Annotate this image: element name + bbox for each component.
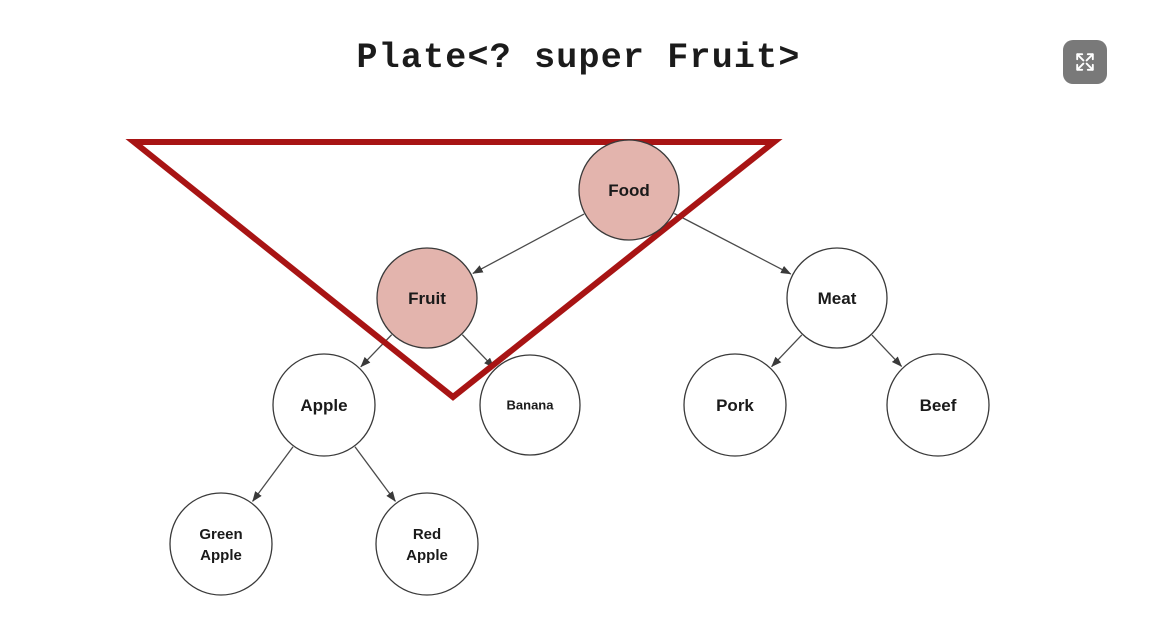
edge-fruit-to-apple xyxy=(361,335,392,367)
node-apple[interactable]: Apple xyxy=(273,354,375,456)
node-label-meat: Meat xyxy=(818,289,857,308)
edge-food-to-fruit xyxy=(473,214,584,273)
node-red-apple[interactable]: RedApple xyxy=(376,493,478,595)
node-label-banana: Banana xyxy=(507,398,555,413)
edge-fruit-to-banana xyxy=(462,335,494,368)
edge-apple-to-red-apple xyxy=(355,447,395,502)
node-fruit[interactable]: Fruit xyxy=(377,248,477,348)
node-label-beef: Beef xyxy=(920,396,957,415)
node-label-fruit: Fruit xyxy=(408,289,446,308)
node-label-apple: Apple xyxy=(300,396,347,415)
edge-meat-to-pork xyxy=(772,335,802,367)
edge-apple-to-green-apple xyxy=(253,447,293,502)
node-meat[interactable]: Meat xyxy=(787,248,887,348)
edge-meat-to-beef xyxy=(872,335,902,366)
node-circle-red-apple xyxy=(376,493,478,595)
node-beef[interactable]: Beef xyxy=(887,354,989,456)
page-root: Plate<? super Fruit> xyxy=(0,0,1157,639)
node-green-apple[interactable]: GreenApple xyxy=(170,493,272,595)
nodes-layer: FoodFruitMeatAppleBananaPorkBeefGreenApp… xyxy=(170,140,989,595)
node-label-food: Food xyxy=(608,181,650,200)
node-circle-green-apple xyxy=(170,493,272,595)
edge-food-to-meat xyxy=(674,214,791,275)
node-banana[interactable]: Banana xyxy=(480,355,580,455)
edges-layer xyxy=(253,214,902,502)
node-pork[interactable]: Pork xyxy=(684,354,786,456)
node-label-pork: Pork xyxy=(716,396,754,415)
node-food[interactable]: Food xyxy=(579,140,679,240)
class-hierarchy-diagram: FoodFruitMeatAppleBananaPorkBeefGreenApp… xyxy=(0,0,1157,639)
